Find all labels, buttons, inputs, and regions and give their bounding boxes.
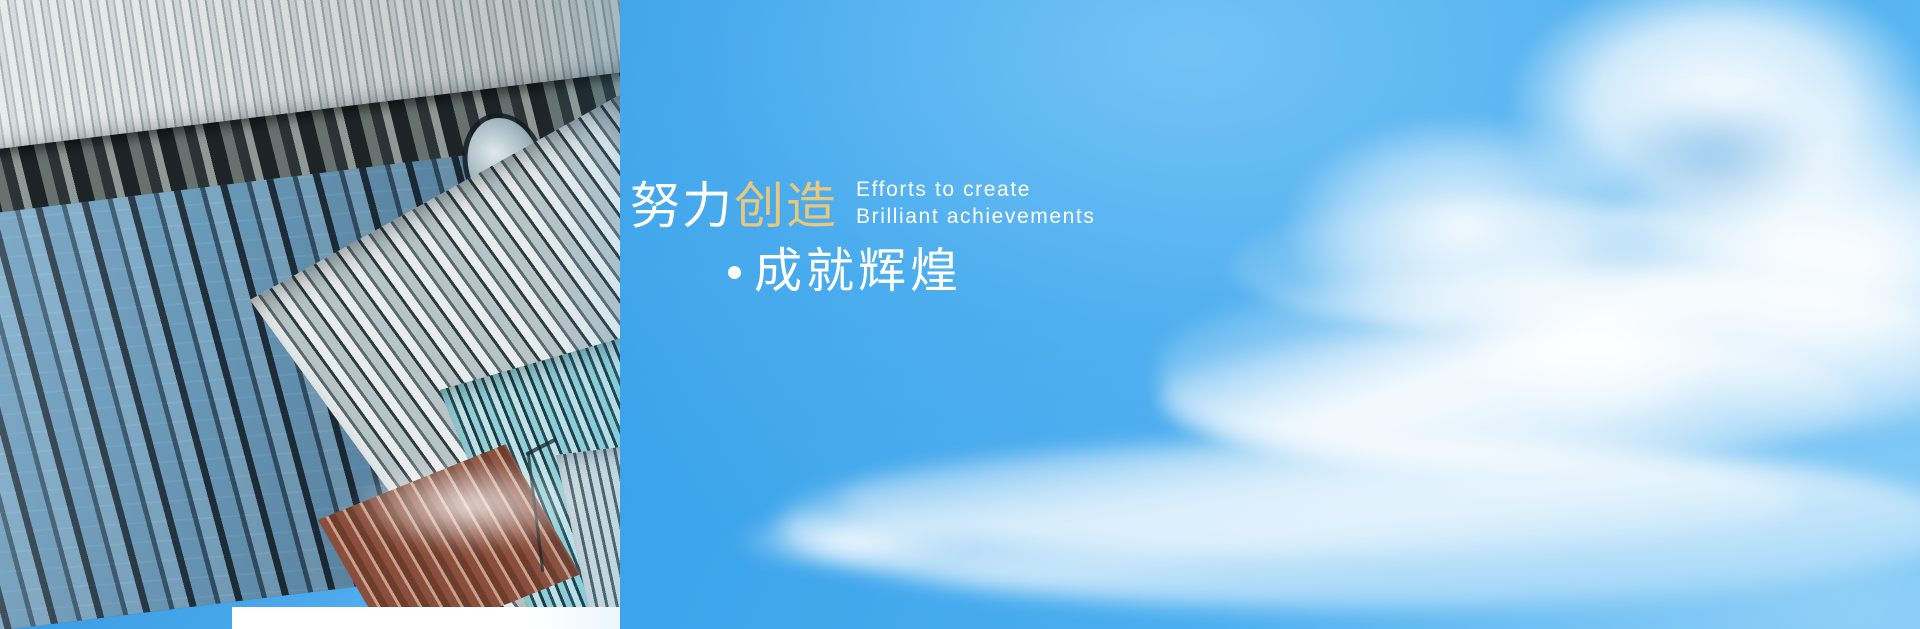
photo-bottom-notch — [232, 607, 620, 629]
headline-english: Efforts to create Brilliant achievements — [856, 176, 1095, 233]
subline-row: 成就辉煌 — [630, 247, 1330, 298]
headline-chinese-white: 努力 — [630, 178, 734, 234]
bullet-point-icon — [728, 266, 741, 279]
banner-copy: 努力创造 Efforts to create Brilliant achieve… — [630, 176, 1330, 297]
headline-english-line-1: Efforts to create — [856, 176, 1095, 203]
headline-chinese-gold: 创造 — [734, 178, 838, 234]
photo-cloud-lower-icon — [300, 430, 620, 580]
headline-english-line-2: Brilliant achievements — [856, 203, 1095, 230]
subline-chinese: 成就辉煌 — [754, 247, 962, 298]
skyscraper-photo — [0, 0, 620, 629]
headline-chinese: 努力创造 — [630, 180, 838, 233]
hero-banner: 努力创造 Efforts to create Brilliant achieve… — [0, 0, 1920, 629]
headline-row: 努力创造 Efforts to create Brilliant achieve… — [630, 176, 1330, 233]
